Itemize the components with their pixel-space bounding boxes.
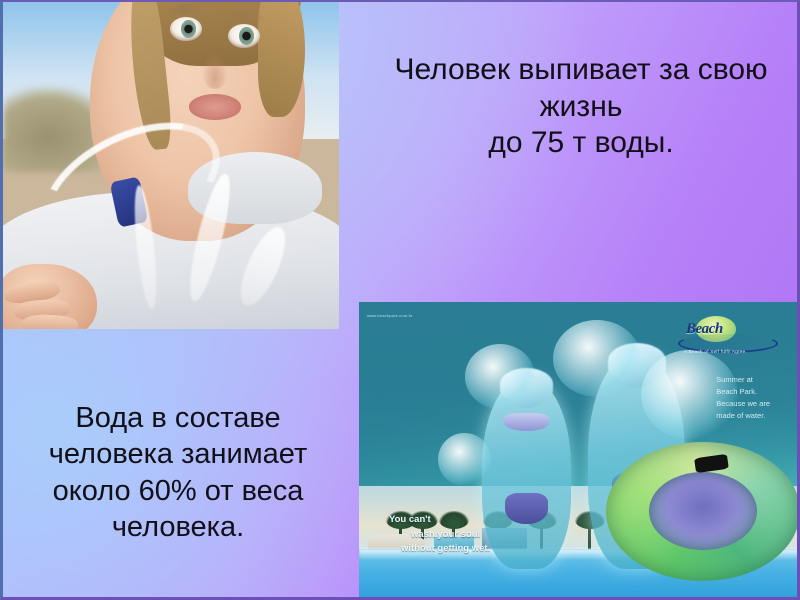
- poster-inner-tube-handle: [694, 453, 729, 473]
- photo-iris-right: [239, 27, 254, 45]
- photo-lips: [189, 94, 241, 119]
- poster-claim-line-2: wash your soul: [389, 528, 490, 543]
- fact-top-line-1: Человек выпивает за свою: [363, 52, 799, 89]
- poster-beach-park: www.beachpark.com.br You can't wash your…: [359, 302, 800, 599]
- poster-splash-4: [438, 433, 491, 486]
- poster-tagline: Summer at Beach Park. Because we are mad…: [716, 374, 770, 422]
- photo-eye-left: [170, 17, 202, 41]
- fact-bottom-line-4: человека.: [19, 509, 337, 545]
- fact-bottom-line-1: Вода в составе: [19, 400, 337, 436]
- fact-top-line-2: жизнь: [363, 89, 799, 126]
- poster-figure-top-girl: [504, 413, 550, 430]
- poster-url[interactable]: www.beachpark.com.br: [367, 313, 413, 318]
- poster-claim-line-3: without getting wet.: [389, 542, 490, 557]
- fact-text-top: Человек выпивает за свою жизнь до 75 т в…: [363, 52, 799, 162]
- poster-figure-bottom-girl: [505, 493, 547, 523]
- fact-text-bottom: Вода в составе человека занимает около 6…: [19, 400, 337, 545]
- fact-top-line-3: до 75 т воды.: [363, 125, 799, 162]
- photo-eye-right: [228, 24, 260, 48]
- photo-nose: [202, 52, 228, 89]
- poster-splash-1: [465, 344, 536, 409]
- poster-logo: Beach A Beach of Self fulfil Agree.: [678, 316, 774, 358]
- poster-inner-tube: [606, 442, 800, 582]
- poster-logo-subtitle: A Beach of Self fulfil Agree.: [684, 349, 747, 354]
- poster-inner-tube-center: [649, 472, 758, 550]
- photo-hair-right: [258, 2, 305, 117]
- poster-tagline-line-3: Because we are: [716, 398, 770, 410]
- poster-tagline-line-4: made of water.: [716, 410, 770, 422]
- poster-splash-2: [553, 320, 641, 397]
- fact-bottom-line-3: около 60% от веса: [19, 473, 337, 509]
- poster-tagline-line-2: Beach Park.: [716, 386, 770, 398]
- photo-iris-left: [181, 20, 196, 38]
- poster-claim-line-1: You can't: [389, 514, 431, 525]
- poster-claim: You can't wash your soul without getting…: [389, 513, 490, 557]
- photo-girl-drinking-water: [3, 2, 339, 329]
- photo-finger-3: [22, 314, 79, 329]
- fact-bottom-line-2: человека занимает: [19, 436, 337, 472]
- poster-tagline-line-1: Summer at: [716, 374, 770, 386]
- poster-logo-wordmark: Beach: [686, 321, 723, 338]
- slide-canvas: Человек выпивает за свою жизнь до 75 т в…: [0, 0, 800, 600]
